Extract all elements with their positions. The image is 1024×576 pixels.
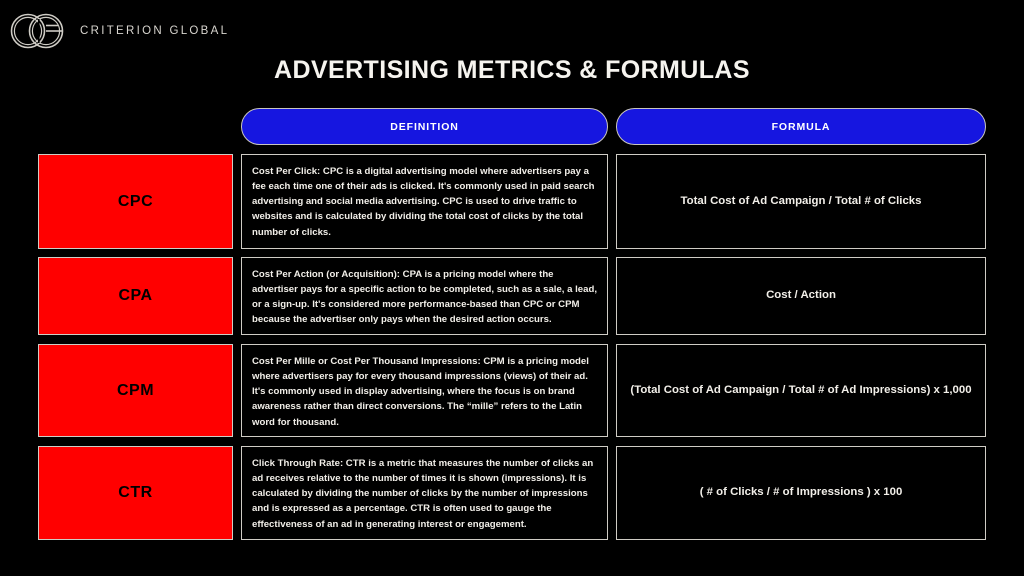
formula-text: ( # of Clicks / # of Impressions ) x 100 [700,485,903,500]
metric-label: CPM [117,382,154,400]
metric-box-cpa: CPA [38,257,233,335]
metric-label: CPC [118,193,153,211]
metric-box-cpm: CPM [38,344,233,437]
column-header-formula: FORMULA [616,108,986,145]
definition-cell-ctr: Click Through Rate: CTR is a metric that… [241,446,608,540]
definition-text: Cost Per Mille or Cost Per Thousand Impr… [252,354,597,430]
column-header-definition: DEFINITION [241,108,608,145]
definition-text: Cost Per Click: CPC is a digital adverti… [252,164,597,240]
formula-cell-cpm: (Total Cost of Ad Campaign / Total # of … [616,344,986,437]
metric-label: CPA [118,287,152,305]
formula-text: Cost / Action [766,288,836,303]
definition-text: Click Through Rate: CTR is a metric that… [252,456,597,532]
definition-cell-cpm: Cost Per Mille or Cost Per Thousand Impr… [241,344,608,437]
formula-cell-cpa: Cost / Action [616,257,986,335]
formula-text: Total Cost of Ad Campaign / Total # of C… [681,194,922,209]
definition-cell-cpa: Cost Per Action (or Acquisition): CPA is… [241,257,608,335]
formula-cell-cpc: Total Cost of Ad Campaign / Total # of C… [616,154,986,249]
formula-text: (Total Cost of Ad Campaign / Total # of … [630,383,971,398]
metrics-table: DEFINITION FORMULA CPC Cost Per Click: C… [0,0,1024,576]
definition-text: Cost Per Action (or Acquisition): CPA is… [252,267,597,328]
metric-label: CTR [118,484,152,502]
metric-box-ctr: CTR [38,446,233,540]
formula-cell-ctr: ( # of Clicks / # of Impressions ) x 100 [616,446,986,540]
definition-cell-cpc: Cost Per Click: CPC is a digital adverti… [241,154,608,249]
metric-box-cpc: CPC [38,154,233,249]
